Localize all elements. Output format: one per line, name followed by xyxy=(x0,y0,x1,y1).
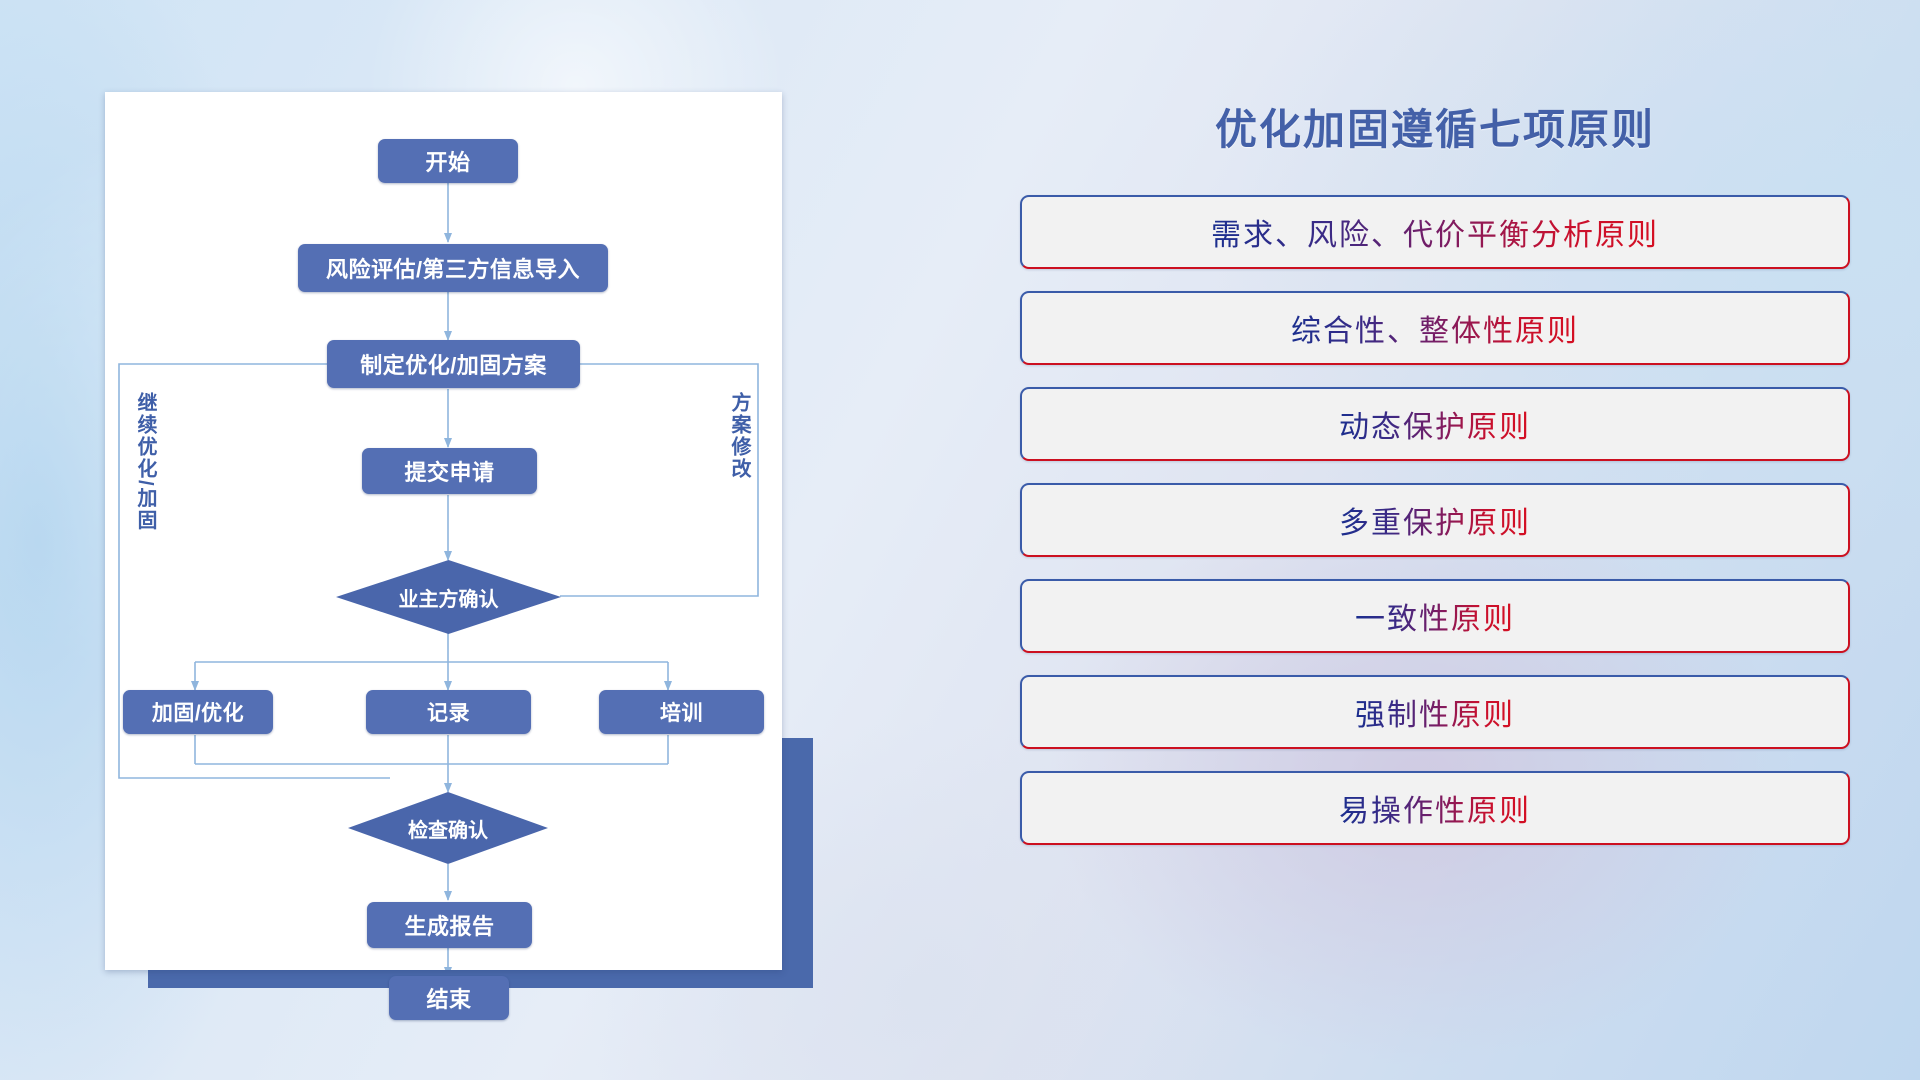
principle-label: 一致性原则 xyxy=(1355,594,1515,638)
flow-node-label: 加固/优化 xyxy=(152,697,244,727)
flow-node-label: 生成报告 xyxy=(404,909,494,941)
flow-node-record[interactable]: 记录 xyxy=(366,690,531,734)
flow-node-label: 风险评估/第三方信息导入 xyxy=(326,252,580,284)
flow-node-label: 提交申请 xyxy=(404,455,494,487)
flow-edge-label-continue-optimize: 继续优化/加固 xyxy=(131,392,160,532)
flow-node-label: 开始 xyxy=(425,145,470,177)
flow-node-reinforce[interactable]: 加固/优化 xyxy=(123,690,273,734)
slide-root: 开始 风险评估/第三方信息导入 制定优化/加固方案 提交申请 业主方确认 加固/… xyxy=(0,0,1920,1080)
flow-node-label: 制定优化/加固方案 xyxy=(360,348,547,380)
flow-node-label: 记录 xyxy=(427,697,470,727)
principle-label: 动态保护原则 xyxy=(1339,402,1531,446)
principle-label: 强制性原则 xyxy=(1355,690,1515,734)
flow-node-plan[interactable]: 制定优化/加固方案 xyxy=(327,340,580,388)
principle-card[interactable]: 多重保护原则 xyxy=(1020,483,1850,557)
principle-label: 多重保护原则 xyxy=(1339,498,1531,542)
flowchart-card: 开始 风险评估/第三方信息导入 制定优化/加固方案 提交申请 业主方确认 加固/… xyxy=(105,92,782,970)
flow-node-label: 结束 xyxy=(426,982,471,1014)
principles-title: 优化加固遵循七项原则 xyxy=(1020,96,1850,157)
flow-node-label: 业主方确认 xyxy=(399,583,499,612)
principle-card[interactable]: 强制性原则 xyxy=(1020,675,1850,749)
principle-card[interactable]: 一致性原则 xyxy=(1020,579,1850,653)
principle-card[interactable]: 易操作性原则 xyxy=(1020,771,1850,845)
principle-label: 需求、风险、代价平衡分析原则 xyxy=(1211,210,1659,254)
flow-node-submit-application[interactable]: 提交申请 xyxy=(362,448,537,494)
flow-node-start[interactable]: 开始 xyxy=(378,139,518,183)
flow-node-training[interactable]: 培训 xyxy=(599,690,764,734)
flow-node-label: 检查确认 xyxy=(408,814,488,843)
principles-card-list: 需求、风险、代价平衡分析原则 综合性、整体性原则 动态保护原则 多重保护原则 一… xyxy=(1020,195,1850,845)
principle-label: 易操作性原则 xyxy=(1339,786,1531,830)
principle-label: 综合性、整体性原则 xyxy=(1291,306,1579,350)
principles-panel: 优化加固遵循七项原则 需求、风险、代价平衡分析原则 综合性、整体性原则 动态保护… xyxy=(1020,96,1850,845)
flow-node-generate-report[interactable]: 生成报告 xyxy=(367,902,532,948)
principle-card[interactable]: 综合性、整体性原则 xyxy=(1020,291,1850,365)
principle-card[interactable]: 需求、风险、代价平衡分析原则 xyxy=(1020,195,1850,269)
flowchart-canvas: 开始 风险评估/第三方信息导入 制定优化/加固方案 提交申请 业主方确认 加固/… xyxy=(105,92,782,970)
flow-node-risk-assessment[interactable]: 风险评估/第三方信息导入 xyxy=(298,244,608,292)
flow-node-end[interactable]: 结束 xyxy=(389,976,509,1020)
principle-card[interactable]: 动态保护原则 xyxy=(1020,387,1850,461)
flow-node-label: 培训 xyxy=(660,697,703,727)
flow-edge-label-plan-revision: 方案修改 xyxy=(725,392,754,480)
